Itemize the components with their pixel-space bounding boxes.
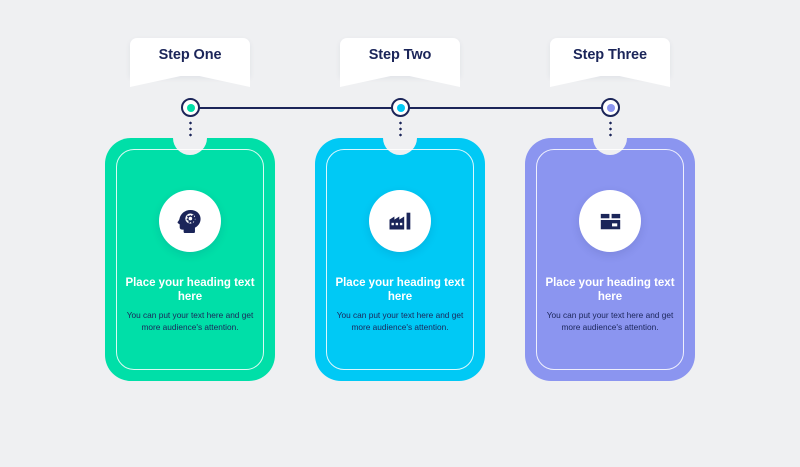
step-tab-one-pointer bbox=[130, 74, 250, 87]
card-one-icon-badge bbox=[159, 190, 221, 252]
card-three-body: You can put your text here and get more … bbox=[541, 310, 679, 333]
timeline-node-one[interactable] bbox=[181, 98, 200, 117]
card-three-heading: Place your heading text here bbox=[539, 276, 681, 304]
card-one-inner-outline bbox=[116, 149, 264, 370]
timeline-node-two-dot bbox=[397, 104, 405, 112]
timeline-node-two[interactable] bbox=[391, 98, 410, 117]
infographic-canvas: Step One Place your heading text here Yo… bbox=[0, 0, 800, 467]
step-tab-three-label: Step Three bbox=[550, 38, 670, 72]
timeline-node-three[interactable] bbox=[601, 98, 620, 117]
step-card-two[interactable]: Place your heading text here You can put… bbox=[315, 138, 485, 381]
card-one-body: You can put your text here and get more … bbox=[121, 310, 259, 333]
step-tab-three-pointer bbox=[550, 74, 670, 87]
card-two-icon-badge bbox=[369, 190, 431, 252]
card-two-inner-outline bbox=[326, 149, 474, 370]
step-tab-three[interactable]: Step Three bbox=[550, 38, 670, 76]
timeline-node-three-dot bbox=[607, 104, 615, 112]
card-one-heading: Place your heading text here bbox=[119, 276, 261, 304]
card-three-icon-badge bbox=[579, 190, 641, 252]
step-tab-two-label: Step Two bbox=[340, 38, 460, 72]
card-two-heading: Place your heading text here bbox=[329, 276, 471, 304]
step-tab-two-pointer bbox=[340, 74, 460, 87]
package-box-icon bbox=[597, 208, 624, 235]
timeline-node-one-dot bbox=[187, 104, 195, 112]
step-card-three[interactable]: Place your heading text here You can put… bbox=[525, 138, 695, 381]
step-card-one[interactable]: Place your heading text here You can put… bbox=[105, 138, 275, 381]
card-two-body: You can put your text here and get more … bbox=[331, 310, 469, 333]
factory-icon bbox=[386, 207, 414, 235]
step-tab-two[interactable]: Step Two bbox=[340, 38, 460, 76]
head-gear-icon bbox=[175, 206, 205, 236]
step-tab-one-label: Step One bbox=[130, 38, 250, 72]
card-three-inner-outline bbox=[536, 149, 684, 370]
step-tab-one[interactable]: Step One bbox=[130, 38, 250, 76]
